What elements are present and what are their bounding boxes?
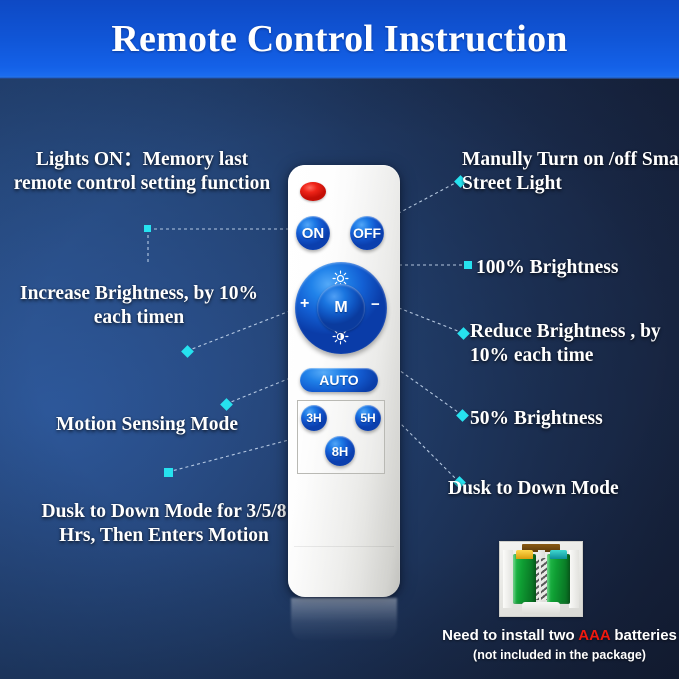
- remote-seam-line: [294, 546, 394, 547]
- off-button[interactable]: OFF: [350, 216, 384, 250]
- battery-cell-left: [513, 554, 536, 604]
- marker-brightness-100: [464, 261, 472, 269]
- marker-lights-on: [144, 225, 151, 232]
- callout-brightness-50: 50% Brightness: [470, 407, 603, 431]
- battery-note-sub: (not included in the package): [440, 648, 679, 662]
- callout-dusk-to-down-right: Dusk to Down Mode: [448, 477, 619, 501]
- instruction-graphic: Remote Control Instruction: [0, 0, 679, 679]
- battery-cap-right: [550, 550, 567, 559]
- callout-motion-sensing: Motion Sensing Mode: [34, 413, 260, 437]
- timer-8h-button[interactable]: 8H: [325, 436, 355, 466]
- title-banner: Remote Control Instruction: [0, 0, 679, 78]
- battery-note-suffix: batteries: [610, 627, 677, 644]
- callout-manually-turn-on-off: Manully Turn on /off Small Street Light: [462, 148, 679, 196]
- banner-bottom-edge: [0, 76, 679, 79]
- battery-note-prefix: Need to install two: [442, 627, 578, 644]
- callout-increase-brightness: Increase Brightness, by 10% each timen: [14, 282, 264, 330]
- callout-brightness-100: 100% Brightness: [476, 256, 618, 280]
- callout-reduce-brightness: Reduce Brightness , by 10% each time: [470, 320, 679, 368]
- timer-3h-button[interactable]: 3H: [301, 405, 327, 431]
- mode-button[interactable]: M: [317, 284, 365, 332]
- decrease-brightness-button[interactable]: −: [371, 296, 380, 313]
- increase-brightness-button[interactable]: +: [300, 295, 309, 313]
- battery-wall-right: [569, 550, 579, 608]
- battery-cell-right: [547, 554, 570, 604]
- battery-wall-left: [503, 550, 513, 608]
- callout-lights-on: Lights ON：Memory last remote control set…: [8, 148, 276, 196]
- battery-contact-foot: [522, 602, 560, 614]
- auto-button[interactable]: AUTO: [300, 368, 378, 392]
- page-title: Remote Control Instruction: [111, 17, 567, 61]
- timer-5h-button[interactable]: 5H: [355, 405, 381, 431]
- callout-dusk-to-down-left: Dusk to Down Mode for 3/5/8 Hrs, Then En…: [28, 500, 300, 548]
- battery-note-highlight: AAA: [578, 627, 610, 644]
- remote-reflection: [291, 598, 397, 642]
- ir-led-indicator: [300, 182, 326, 201]
- on-button[interactable]: ON: [296, 216, 330, 250]
- battery-compartment-image: [499, 541, 583, 617]
- battery-note: Need to install two AAA batteries: [440, 627, 679, 644]
- battery-cap-left: [516, 550, 533, 559]
- marker-dusk-left: [164, 468, 173, 477]
